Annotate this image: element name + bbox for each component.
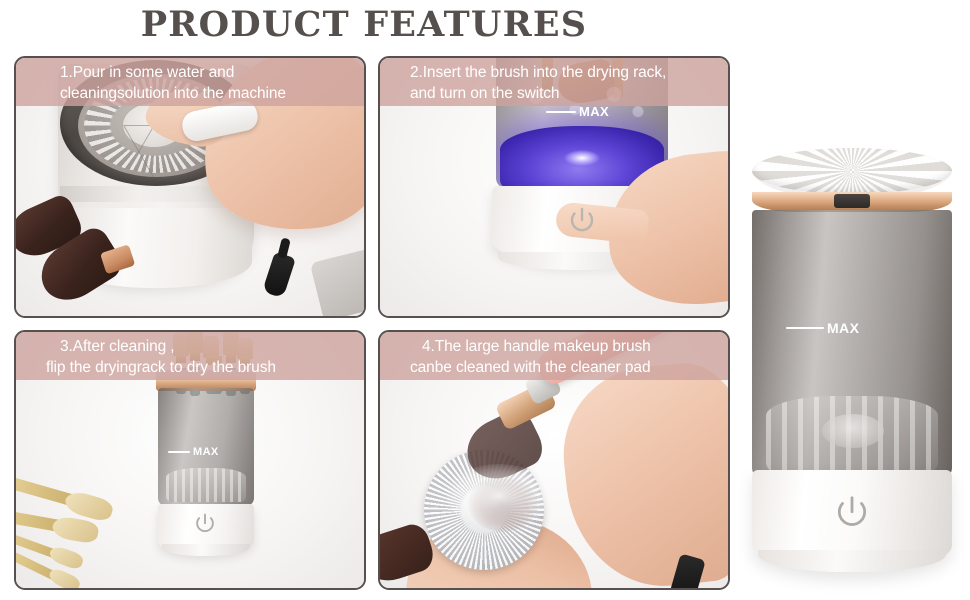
cleaner-foot — [758, 550, 946, 572]
max-marker: MAX — [546, 104, 609, 119]
feature-panel-2[interactable]: MAX 2.Insert the brush into the drying r… — [378, 56, 730, 318]
transparent-tank — [752, 210, 952, 478]
foam-lather — [446, 464, 552, 528]
feature-caption-3: 3.After cleaning , flip the dryingrack t… — [16, 332, 364, 380]
power-icon[interactable] — [568, 206, 596, 236]
max-line — [168, 451, 190, 453]
textured-lid — [752, 148, 952, 194]
max-line — [786, 327, 824, 329]
caption-line-2: canbe cleaned with the cleaner pad — [410, 357, 720, 378]
max-line — [546, 111, 576, 113]
drying-rack — [166, 468, 246, 502]
caption-line-2: and turn on the switch — [410, 83, 720, 104]
caption-line-1: 3.After cleaning , — [46, 336, 175, 357]
max-label: MAX — [827, 320, 859, 336]
max-marker: MAX — [168, 446, 219, 458]
latch — [834, 194, 870, 208]
led-glow — [564, 150, 600, 166]
infographic-root: PRODUCT FEATURES — [0, 0, 970, 600]
caption-line-1: 4.The large handle makeup brush — [410, 336, 651, 357]
rack-hub — [822, 414, 884, 448]
caption-line-1: 2.Insert the brush into the drying rack, — [410, 64, 666, 81]
feature-caption-1: 1.Pour in some water and cleaningsolutio… — [16, 58, 364, 106]
caption-line-2: cleaningsolution into the machine — [60, 83, 356, 104]
page-title: PRODUCT FEATURES — [0, 4, 728, 45]
feature-panel-4[interactable]: 4.The large handle makeup brush canbe cl… — [378, 330, 730, 590]
power-icon[interactable] — [834, 494, 870, 532]
feature-panel-1[interactable]: 1.Pour in some water and cleaningsolutio… — [14, 56, 366, 318]
max-marker: MAX — [786, 320, 859, 336]
hero-product-image: MAX — [746, 148, 958, 588]
feature-caption-2: 2.Insert the brush into the drying rack,… — [380, 58, 728, 106]
feature-panel-3[interactable]: MAX — [14, 330, 366, 590]
feature-caption-4: 4.The large handle makeup brush canbe cl… — [380, 332, 728, 380]
power-icon[interactable] — [194, 512, 216, 536]
caption-line-2: flip the dryingrack to dry the brush — [46, 357, 356, 378]
max-label: MAX — [193, 446, 219, 458]
max-label: MAX — [579, 104, 609, 119]
caption-line-1: 1.Pour in some water and — [60, 64, 234, 81]
